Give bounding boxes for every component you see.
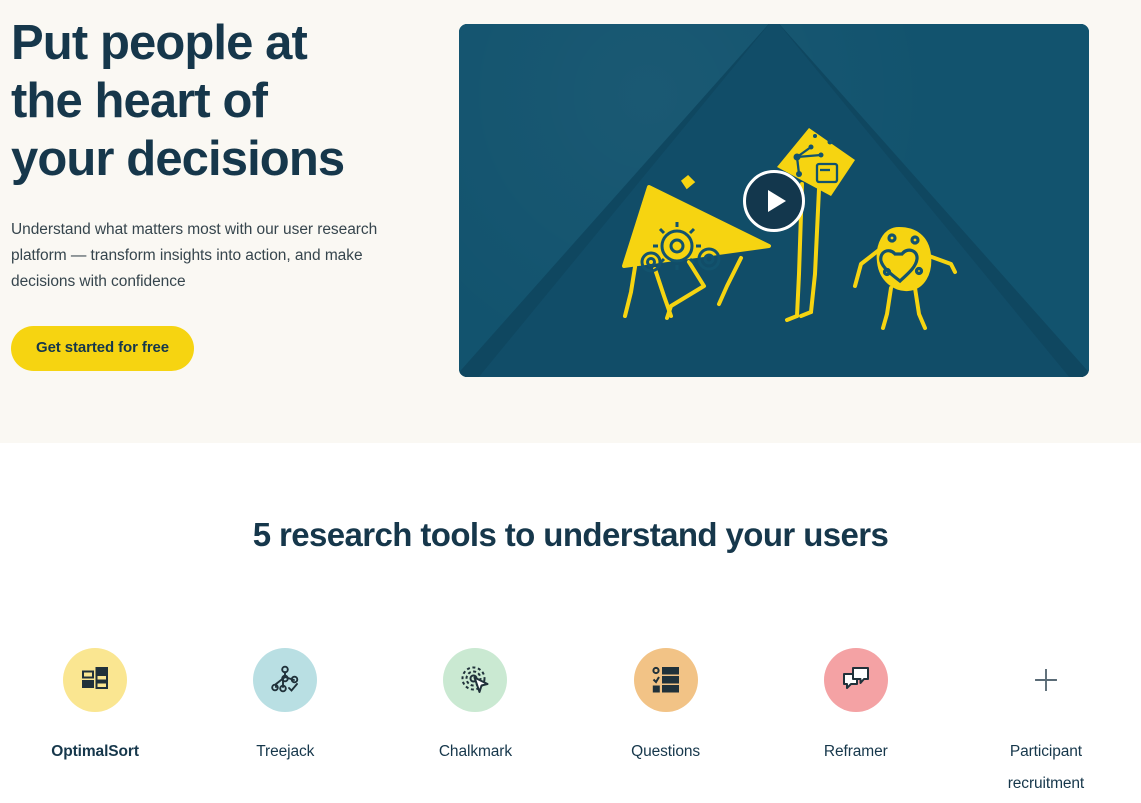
card-sort-icon xyxy=(63,648,127,712)
tools-tablist: OptimalSort Treejack xyxy=(0,648,1141,800)
tool-tab-treejack[interactable]: Treejack xyxy=(190,648,380,800)
tool-label: Questions xyxy=(631,736,700,768)
tool-label: Treejack xyxy=(256,736,314,768)
tool-label: OptimalSort xyxy=(51,736,139,768)
tool-label: Chalkmark xyxy=(439,736,512,768)
tool-tab-reframer[interactable]: Reframer xyxy=(761,648,951,800)
tools-heading: 5 research tools to understand your user… xyxy=(0,514,1141,556)
hero-copy: Put people at the heart of your decision… xyxy=(11,14,411,371)
tool-tab-optimalsort[interactable]: OptimalSort xyxy=(0,648,190,800)
hero-section: Put people at the heart of your decision… xyxy=(0,0,1141,443)
get-started-button[interactable]: Get started for free xyxy=(11,326,194,371)
tool-label: Reframer xyxy=(824,736,888,768)
research-tools-section: 5 research tools to understand your user… xyxy=(0,443,1141,803)
speech-bubbles-icon xyxy=(824,648,888,712)
tool-tab-questions[interactable]: Questions xyxy=(571,648,761,800)
hero-video-card[interactable] xyxy=(459,24,1089,377)
tool-tab-participant-recruitment[interactable]: Participant recruitment xyxy=(951,648,1141,800)
first-click-target-icon xyxy=(443,648,507,712)
tree-test-icon xyxy=(253,648,317,712)
tool-label: Participant recruitment xyxy=(986,736,1106,800)
hero-subtitle: Understand what matters most with our us… xyxy=(11,217,383,295)
page-title: Put people at the heart of your decision… xyxy=(11,14,381,188)
survey-checklist-icon xyxy=(634,648,698,712)
play-button[interactable] xyxy=(743,170,805,232)
plus-icon xyxy=(1014,648,1078,712)
tool-tab-chalkmark[interactable]: Chalkmark xyxy=(380,648,570,800)
play-icon xyxy=(768,190,786,212)
